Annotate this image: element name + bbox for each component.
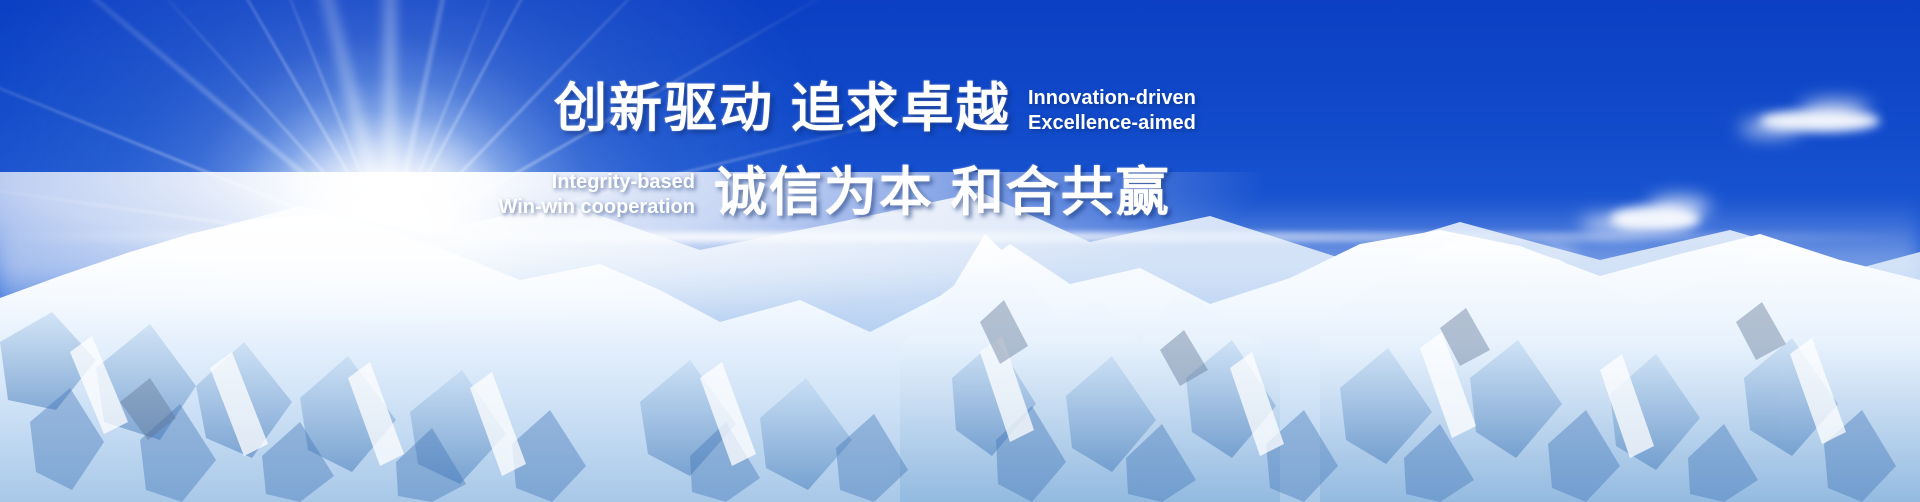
cloud-upper-right [1800, 100, 1870, 118]
slogan-chinese-line-1: 创新驱动 追求卓越 [554, 78, 1011, 140]
hero-banner: 创新驱动 追求卓越 诚信为本 和合共赢 Innovation-driven Ex… [0, 0, 1920, 502]
slogan-english-right-line-1: Innovation-driven [1028, 86, 1196, 111]
slogan-english-left-line-1: Integrity-based [415, 170, 695, 195]
slogan-english-left-line-2: Win-win cooperation [415, 195, 695, 220]
slogan-english-right: Innovation-driven Excellence-aimed [1028, 86, 1196, 136]
cloud-upper-right [1740, 120, 1800, 136]
slogan-chinese-line-2: 诚信为本 和合共赢 [714, 162, 1171, 224]
slogan-english-right-line-2: Excellence-aimed [1028, 111, 1196, 136]
slogan-english-left: Integrity-based Win-win cooperation [415, 170, 695, 220]
